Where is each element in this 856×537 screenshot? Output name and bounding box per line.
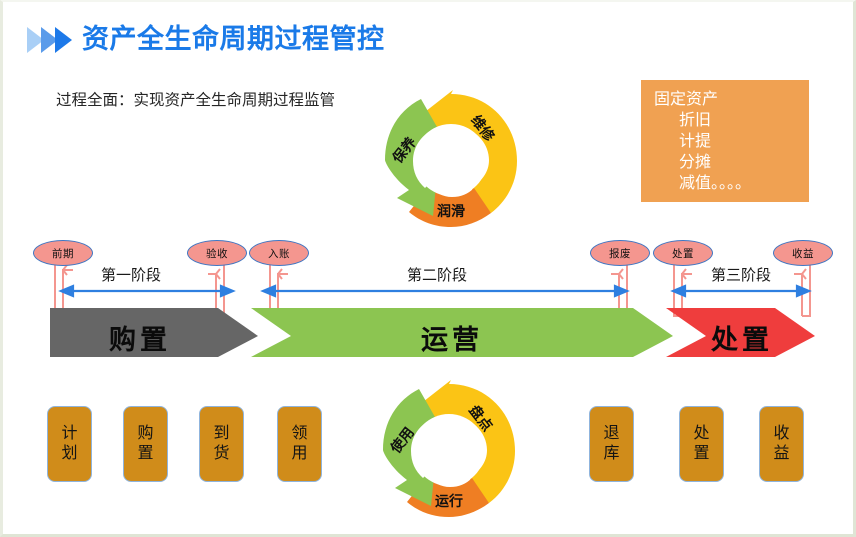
cycle-bottom-label-1: 运行 [435,491,463,511]
stage-arrow-1-head-right [221,286,233,296]
activity-char-5-0: 处 [693,424,709,444]
activity-box-arrival[interactable]: 到 货 [199,406,244,482]
slide-canvas: 资产全生命周期过程管控 过程全面：实现资产全生命周期过程监管 固定资产 折旧 计… [0,0,856,537]
activity-char-1-0: 购 [137,424,153,444]
info-line-0: 固定资产 [641,89,809,110]
stage-label-1: 第一阶段 [101,264,161,285]
phase-label-acquisition: 购置 [109,318,171,357]
activity-char-6-0: 收 [773,424,789,444]
activity-box-requisition[interactable]: 领 用 [277,406,322,482]
callout-label-5: 收益 [792,246,814,261]
stage-arrow-2-head-left [263,286,275,296]
stage-arrow-3-head-right [797,286,809,296]
info-line-4: 减值。。。。 [641,173,809,194]
activity-char-3-0: 领 [291,424,307,444]
activity-char-4-1: 库 [603,444,619,464]
callout-yanshou[interactable]: 验收 [187,240,247,266]
activity-box-revenue[interactable]: 收 益 [759,406,804,482]
activity-box-purchase[interactable]: 购 置 [123,406,168,482]
operation-cycle-diagram: 盘点 运行 使用 [379,378,519,520]
callout-ruzhang[interactable]: 入账 [249,240,309,266]
activity-char-6-1: 益 [773,444,789,464]
activity-box-plan[interactable]: 计 划 [47,406,92,482]
activity-char-2-0: 到 [213,424,229,444]
activity-box-return[interactable]: 退 库 [589,406,634,482]
fixed-asset-info-box: 固定资产 折旧 计提 分摊 减值。。。。 [641,80,809,202]
stage-arrow-2-head-right [615,286,627,296]
callout-label-3: 报废 [609,246,631,261]
activity-char-5-1: 置 [693,444,709,464]
maintenance-cycle-diagram: 维修 润滑 保养 [381,88,521,230]
activity-char-3-1: 用 [291,444,307,464]
callout-label-4: 处置 [672,246,694,261]
activity-char-4-0: 退 [603,424,619,444]
phase-label-disposal: 处置 [711,318,773,357]
stage-label-2: 第二阶段 [407,264,467,285]
activity-char-2-1: 货 [213,444,229,464]
callout-chuzhi[interactable]: 处置 [653,240,713,266]
page-title: 资产全生命周期过程管控 [82,26,385,53]
callout-qianqi[interactable]: 前期 [33,240,93,266]
cycle-top-label-1: 润滑 [437,201,465,221]
callout-baofei[interactable]: 报废 [590,240,650,266]
activity-char-0-0: 计 [61,424,77,444]
triple-arrow-icon [27,27,72,53]
info-line-2: 计提 [641,131,809,152]
activity-char-1-1: 置 [137,444,153,464]
callout-label-0: 前期 [52,246,74,261]
phase-label-operation: 运营 [421,318,483,357]
stage-label-3: 第三阶段 [711,264,771,285]
page-subtitle: 过程全面：实现资产全生命周期过程监管 [56,88,335,110]
callout-label-2: 入账 [268,246,290,261]
activity-char-0-1: 划 [61,444,77,464]
title-row: 资产全生命周期过程管控 [27,26,385,53]
activity-box-disposal[interactable]: 处 置 [679,406,724,482]
info-line-1: 折旧 [641,110,809,131]
info-line-3: 分摊 [641,152,809,173]
callout-shouyi[interactable]: 收益 [773,240,833,266]
callout-label-1: 验收 [206,246,228,261]
lifecycle-phase-band: 前期 验收 入账 报废 处置 收益 第一阶段 第二阶段 第三阶段 购置 运营 处… [3,238,856,358]
